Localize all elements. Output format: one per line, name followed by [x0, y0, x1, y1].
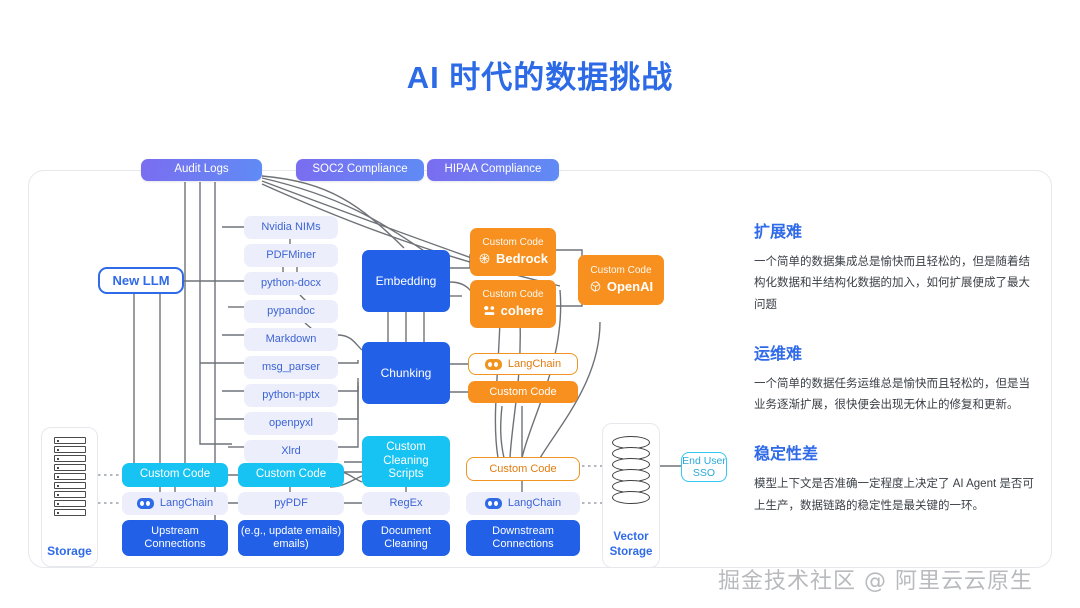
node-col2-custom-code[interactable]: Custom Code — [238, 463, 344, 487]
node-parser-markdown[interactable]: Markdown — [244, 328, 338, 351]
col3-bottom-label: Document Cleaning — [381, 525, 431, 551]
challenge-heading: 扩展难 — [754, 218, 1039, 242]
provider-sub-label: Custom Code — [482, 237, 543, 249]
langchain-icon — [485, 359, 502, 370]
provider-brand-label: Bedrock — [496, 251, 548, 266]
parser-label: pypandoc — [267, 305, 315, 318]
provider-brand: OpenAI — [589, 279, 653, 294]
parser-label: python-docx — [261, 277, 321, 290]
node-document-cleaning[interactable]: Document Cleaning — [362, 520, 450, 556]
provider-brand: cohere — [483, 303, 544, 318]
vector-storage-card: Vector Storage — [602, 423, 660, 568]
vector-storage-label: Vector Storage — [603, 530, 659, 559]
col2-top-label: Custom Code — [256, 468, 326, 482]
badge-label: Audit Logs — [174, 163, 228, 177]
challenge-section-stability: 稳定性差 模型上下文是否准确一定程度上决定了 AI Agent 是否可上生产，数… — [754, 440, 1039, 517]
node-col4-custom-code[interactable]: Custom Code — [466, 457, 580, 481]
database-cylinder-icon — [612, 436, 650, 514]
chunking-label: Chunking — [381, 366, 432, 380]
slide-root: AI 时代的数据挑战 — [0, 0, 1080, 608]
challenge-heading: 稳定性差 — [754, 440, 1039, 464]
page-title: AI 时代的数据挑战 — [0, 52, 1080, 97]
node-parser-python-docx[interactable]: python-docx — [244, 272, 338, 295]
badge-label: HIPAA Compliance — [445, 163, 542, 177]
node-chunk-custom-code[interactable]: Custom Code — [468, 381, 578, 403]
cohere-icon — [483, 304, 496, 317]
embedding-label: Embedding — [376, 274, 437, 288]
node-col1-langchain[interactable]: LangChain — [122, 492, 228, 515]
provider-sub-label: Custom Code — [590, 265, 651, 277]
col1-top-label: Custom Code — [140, 468, 210, 482]
col4-mid-label: LangChain — [508, 497, 561, 510]
provider-brand: Bedrock — [478, 251, 548, 266]
challenge-section-scaling: 扩展难 一个简单的数据集成总是愉快而且轻松的，但是随着结构化数据和半结构化数据的… — [754, 218, 1039, 316]
node-parser-python-pptx[interactable]: python-pptx — [244, 384, 338, 407]
node-new-llm[interactable]: New LLM — [98, 267, 184, 294]
parser-label: PDFMiner — [266, 249, 316, 262]
parser-label: Markdown — [266, 333, 317, 346]
node-chunking[interactable]: Chunking — [362, 342, 450, 404]
provider-brand-label: OpenAI — [607, 279, 653, 294]
col1-mid-label: LangChain — [160, 497, 213, 510]
node-col3-regex[interactable]: RegEx — [362, 492, 450, 515]
provider-brand-label: cohere — [501, 303, 544, 318]
node-col4-langchain[interactable]: LangChain — [466, 492, 580, 515]
new-llm-label: New LLM — [112, 273, 169, 288]
node-end-user-sso[interactable]: End User SSO — [681, 452, 727, 482]
storage-label: Storage — [42, 544, 97, 558]
end-user-sso-label: End User SSO — [682, 455, 726, 480]
node-embedding[interactable]: Embedding — [362, 250, 450, 312]
node-provider-cohere[interactable]: Custom Code cohere — [470, 280, 556, 328]
chunk-langchain-label: LangChain — [508, 358, 561, 371]
chunk-custom-code-label: Custom Code — [489, 386, 556, 399]
parser-label: python-pptx — [262, 389, 319, 402]
challenge-section-operations: 运维难 一个简单的数据任务运维总是愉快而且轻松的，但是当业务逐渐扩展，很快便会出… — [754, 340, 1039, 417]
challenge-heading: 运维难 — [754, 340, 1039, 364]
col4-top-label: Custom Code — [489, 463, 556, 476]
bedrock-icon — [478, 252, 491, 265]
challenge-body: 一个简单的数据集成总是愉快而且轻松的，但是随着结构化数据和半结构化数据的加入，如… — [754, 252, 1039, 316]
node-parser-openpyxl[interactable]: openpyxl — [244, 412, 338, 435]
server-rack-icon — [54, 437, 86, 516]
node-downstream-connections[interactable]: Downstream Connections — [466, 520, 580, 556]
col3-mid-label: RegEx — [389, 497, 422, 510]
langchain-icon — [485, 498, 502, 509]
node-parser-msg-parser[interactable]: msg_parser — [244, 356, 338, 379]
langchain-icon — [137, 498, 154, 509]
node-update-emails[interactable]: (e.g., update emails) emails) — [238, 520, 344, 556]
storage-card: Storage — [41, 427, 98, 567]
node-custom-cleaning-scripts[interactable]: Custom Cleaning Scripts — [362, 436, 450, 487]
parser-label: Xlrd — [281, 445, 301, 458]
node-parser-xlrd[interactable]: Xlrd — [244, 440, 338, 463]
badge-soc2-compliance[interactable]: SOC2 Compliance — [296, 159, 424, 181]
watermark: 掘金技术社区 @ 阿里云云原生 — [718, 563, 1033, 595]
challenge-body: 一个简单的数据任务运维总是愉快而且轻松的，但是当业务逐渐扩展，很快便会出现无休止… — [754, 374, 1039, 417]
badge-hipaa-compliance[interactable]: HIPAA Compliance — [427, 159, 559, 181]
challenge-body: 模型上下文是否准确一定程度上决定了 AI Agent 是否可上生产，数据链路的稳… — [754, 474, 1039, 517]
node-col1-custom-code[interactable]: Custom Code — [122, 463, 228, 487]
col2-bottom-label: (e.g., update emails) emails) — [241, 525, 341, 551]
col3-top-label: Custom Cleaning Scripts — [383, 441, 428, 482]
col1-bottom-label: Upstream Connections — [144, 525, 205, 551]
node-chunk-langchain[interactable]: LangChain — [468, 353, 578, 375]
node-parser-nvidia-nims[interactable]: Nvidia NIMs — [244, 216, 338, 239]
node-parser-pypandoc[interactable]: pypandoc — [244, 300, 338, 323]
node-col2-pypdf[interactable]: pyPDF — [238, 492, 344, 515]
openai-icon — [589, 280, 602, 293]
badge-label: SOC2 Compliance — [312, 163, 407, 177]
col2-mid-label: pyPDF — [274, 497, 308, 510]
provider-sub-label: Custom Code — [482, 289, 543, 301]
parser-label: openpyxl — [269, 417, 313, 430]
col4-bottom-label: Downstream Connections — [492, 525, 554, 551]
badge-audit-logs[interactable]: Audit Logs — [141, 159, 262, 181]
challenges-panel: 扩展难 一个简单的数据集成总是愉快而且轻松的，但是随着结构化数据和半结构化数据的… — [754, 218, 1039, 541]
node-parser-pdfminer[interactable]: PDFMiner — [244, 244, 338, 267]
node-upstream-connections[interactable]: Upstream Connections — [122, 520, 228, 556]
node-provider-bedrock[interactable]: Custom Code Bedrock — [470, 228, 556, 276]
node-provider-openai[interactable]: Custom Code OpenAI — [578, 255, 664, 305]
parser-label: msg_parser — [262, 361, 320, 374]
parser-label: Nvidia NIMs — [261, 221, 320, 234]
